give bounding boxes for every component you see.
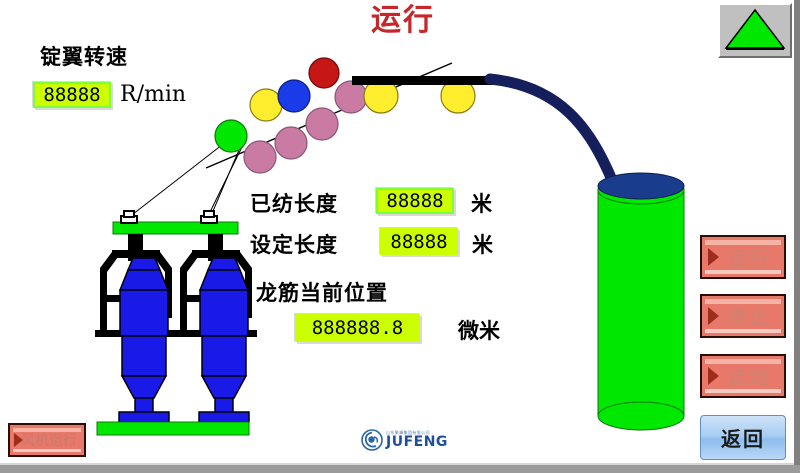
back-button[interactable]: 返回: [700, 415, 786, 460]
spun-length-unit: 米: [471, 188, 492, 218]
play-arrow-icon: [708, 248, 719, 266]
ball-chain: [215, 58, 475, 173]
set-length-unit: 米: [472, 229, 493, 259]
spun-length-value[interactable]: 88888: [376, 188, 454, 214]
up-triangle-indicator[interactable]: [718, 3, 792, 58]
rail-position-value[interactable]: 888888.8: [295, 314, 420, 342]
page-title: 运行: [333, 2, 473, 40]
speed-unit: R/min: [120, 82, 186, 107]
fan-run-button[interactable]: 风机运行: [8, 423, 86, 457]
hmi-screen: 运行 锭翼转速 88888 R/min 已纺长度 88888 米 设定长度 88…: [0, 0, 800, 473]
stop-button-label: 停止: [728, 303, 770, 330]
set-length-label: 设定长度: [250, 229, 338, 259]
jog-button-label: 点动: [728, 363, 770, 390]
rail-position-label: 龙筋当前位置: [256, 277, 388, 307]
yarn-package: [598, 173, 684, 430]
right-border-strip: [794, 0, 800, 465]
spun-length-label: 已纺长度: [250, 188, 338, 218]
rail-position-unit: 微米: [458, 315, 500, 345]
bottom-border-strip: [0, 465, 800, 473]
spindle-assembly: [95, 211, 257, 435]
run-button-highlight-bottom: [705, 270, 781, 274]
stop-button[interactable]: 停止: [700, 294, 786, 338]
triangle-icon: [724, 8, 786, 52]
stop-button-highlight-bottom: [705, 329, 781, 333]
run-button-label: 运行: [728, 244, 770, 271]
jog-button-highlight-bottom: [705, 389, 781, 393]
speed-value[interactable]: 88888: [33, 82, 111, 108]
run-button[interactable]: 运行: [700, 235, 786, 279]
logo-brand: JUFENG: [386, 435, 448, 450]
set-length-value[interactable]: 88888: [380, 228, 458, 255]
speed-label: 锭翼转速: [40, 41, 128, 71]
swirl-icon: [361, 429, 383, 451]
play-arrow-icon: [708, 307, 719, 325]
fan-run-button-label: 风机运行: [21, 430, 77, 450]
jog-button[interactable]: 点动: [700, 354, 786, 398]
play-arrow-icon: [708, 367, 719, 385]
company-logo: 山东聚峰集团有限公司 JUFENG: [361, 427, 471, 453]
